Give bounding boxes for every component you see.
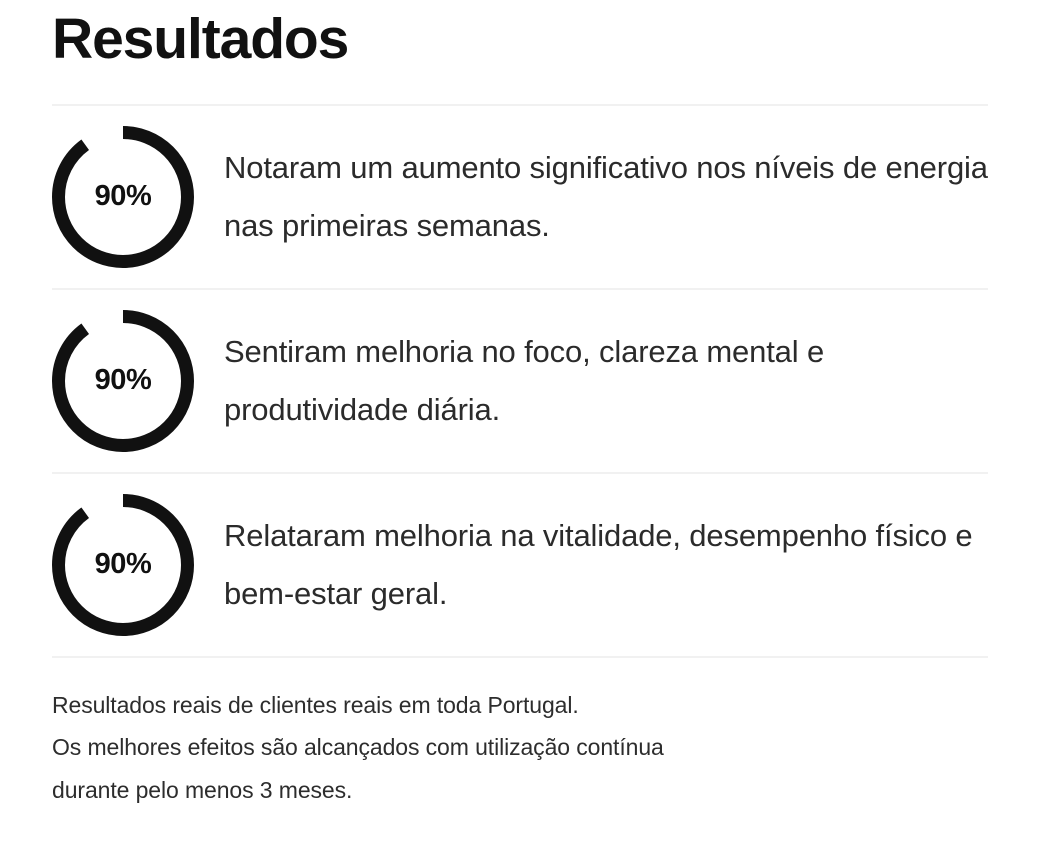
progress-ring-1: 90% xyxy=(52,126,194,268)
progress-ring-value: 90% xyxy=(95,366,152,395)
footnote-line-2: Os melhores efeitos são alcançados com u… xyxy=(52,726,952,769)
result-description: Relataram melhoria na vitalidade, desemp… xyxy=(224,507,994,624)
footnote-line-1: Resultados reais de clientes reais em to… xyxy=(52,684,952,727)
results-page: Resultados 90% Notaram um aumento signif… xyxy=(0,0,1056,854)
result-description: Sentiram melhoria no foco, clareza menta… xyxy=(224,323,994,440)
result-row: 90% Relataram melhoria na vitalidade, de… xyxy=(52,474,1004,656)
result-description: Notaram um aumento significativo nos nív… xyxy=(224,139,994,256)
result-row: 90% Notaram um aumento significativo nos… xyxy=(52,106,1004,288)
footnote: Resultados reais de clientes reais em to… xyxy=(52,658,952,812)
progress-ring-2: 90% xyxy=(52,310,194,452)
progress-ring-value: 90% xyxy=(95,550,152,579)
results-list: 90% Notaram um aumento significativo nos… xyxy=(52,106,1004,656)
progress-ring-3: 90% xyxy=(52,494,194,636)
result-row: 90% Sentiram melhoria no foco, clareza m… xyxy=(52,290,1004,472)
page-title: Resultados xyxy=(52,0,1004,72)
progress-ring-value: 90% xyxy=(95,182,152,211)
footnote-line-3: durante pelo menos 3 meses. xyxy=(52,769,952,812)
